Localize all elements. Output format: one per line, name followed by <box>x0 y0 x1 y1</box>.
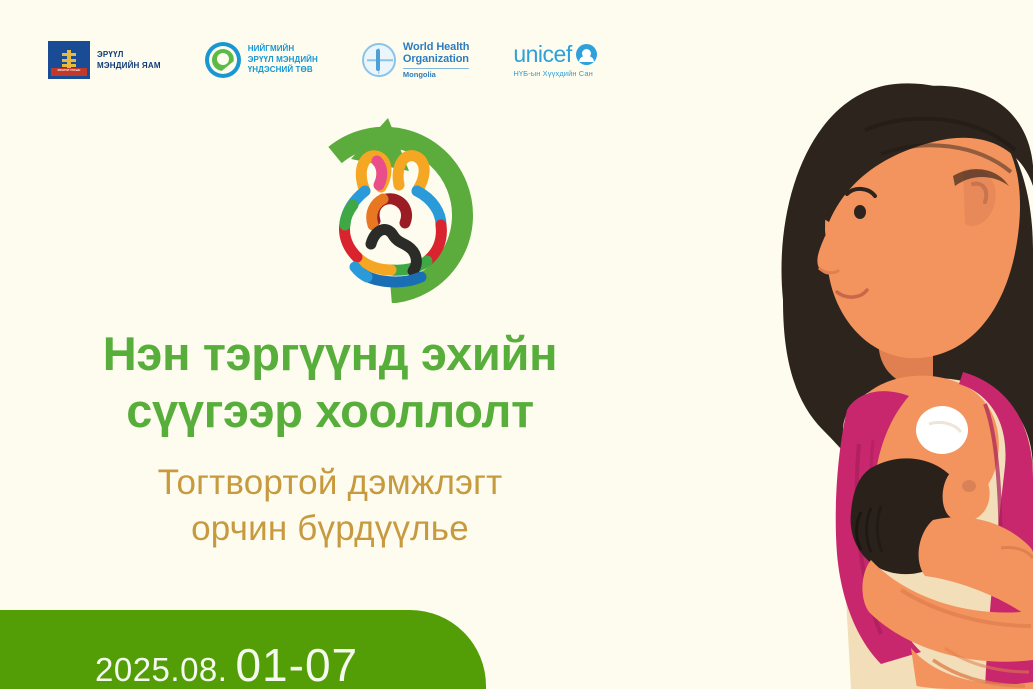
world-breastfeeding-week-emblem <box>291 113 491 303</box>
breastfeeding-mother-and-baby-illustration <box>633 0 1033 689</box>
headline-line1: Нэн тэргүүнд эхийн <box>0 325 660 382</box>
headline-line2: сүүгээр хооллолт <box>0 382 660 439</box>
baby-ear <box>962 480 976 492</box>
who-label: World Health Organization Mongolia <box>403 41 469 79</box>
crest-line1: МОНГОЛ УЛСЫН <box>51 68 87 73</box>
subhead-line1: Тогтвортой дэмжлэгт <box>0 460 660 506</box>
nchd-label-line3: ҮНДЭСНИЙ ТӨВ <box>248 65 318 76</box>
date-year-month: 2025.08. <box>95 651 227 689</box>
who-divider <box>403 68 469 69</box>
national-center-public-health-logo: НИЙГМИЙН ЭРҮҮЛ МЭНДИЙН ҮНДЭСНИЙ ТӨВ <box>205 42 318 78</box>
mongolia-state-crest-icon: МОНГОЛ УЛСЫН <box>48 41 90 79</box>
who-globe-icon <box>362 43 396 77</box>
who-label-line2: Organization <box>403 53 469 65</box>
poster-canvas: МОНГОЛ УЛСЫН ЭРҮҮЛ МЭНДИЙН ЯАМ НИЙГМИЙН … <box>0 0 1033 689</box>
unicef-wordmark: unicef <box>513 43 571 66</box>
nchd-label-line2: ЭРҮҮЛ МЭНДИЙН <box>248 55 318 66</box>
ministry-of-health-label: ЭРҮҮЛ МЭНДИЙН ЯАМ <box>97 49 161 71</box>
ministry-label-line1: ЭРҮҮЛ <box>97 49 161 60</box>
page-subtitle: Тогтвортой дэмжлэгт орчин бүрдүүлье <box>0 460 660 552</box>
date-banner: 2025.08. 01-07 <box>0 610 486 689</box>
nchd-label-line1: НИЙГМИЙН <box>248 44 318 55</box>
partner-logo-bar: МОНГОЛ УЛСЫН ЭРҮҮЛ МЭНДИЙН ЯАМ НИЙГМИЙН … <box>48 36 597 84</box>
who-logo: World Health Organization Mongolia <box>362 41 469 79</box>
nchd-label: НИЙГМИЙН ЭРҮҮЛ МЭНДИЙН ҮНДЭСНИЙ ТӨВ <box>248 44 318 76</box>
page-title: Нэн тэргүүнд эхийн сүүгээр хооллолт <box>0 325 660 439</box>
subhead-line2: орчин бүрдүүлье <box>0 506 660 552</box>
date-day-range: 01-07 <box>235 638 358 689</box>
multicolor-mother-child-ring <box>345 156 442 282</box>
who-country-label: Mongolia <box>403 71 469 79</box>
ministry-of-health-logo: МОНГОЛ УЛСЫН ЭРҮҮЛ МЭНДИЙН ЯАМ <box>48 41 161 79</box>
unicef-label: НҮБ-ын Хүүхдийн Сан <box>513 69 596 78</box>
nchd-swirl-icon <box>205 42 241 78</box>
unicef-logo: unicef НҮБ-ын Хүүхдийн Сан <box>513 43 596 78</box>
who-label-line1: World Health <box>403 41 469 53</box>
ministry-label-line2: МЭНДИЙН ЯАМ <box>97 60 161 71</box>
unicef-mother-child-icon <box>576 44 597 65</box>
mother-eye <box>854 205 866 219</box>
